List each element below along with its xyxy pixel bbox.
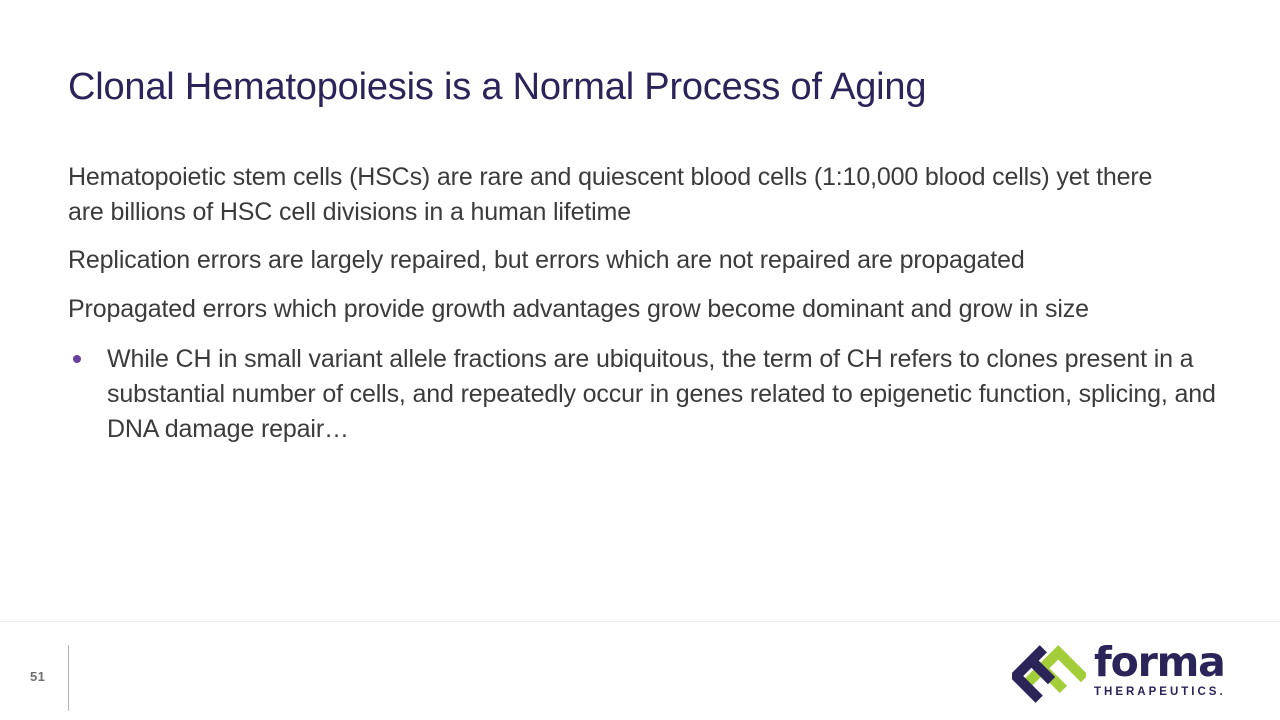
footer-divider-rule (0, 621, 1280, 622)
page-number: 51 (30, 669, 60, 684)
logo-name: forma (1094, 642, 1224, 683)
list-item: While CH in small variant allele fractio… (68, 342, 1242, 447)
list-item-label: While CH in small variant allele fractio… (107, 345, 1216, 443)
body-paragraph: Replication errors are largely repaired,… (68, 243, 1078, 278)
footer-vertical-divider (68, 645, 69, 711)
logo-wordmark: forma THERAPEUTICS. (1094, 642, 1224, 708)
body-paragraph: Hematopoietic stem cells (HSCs) are rare… (68, 160, 1168, 229)
page-title: Clonal Hematopoiesis is a Normal Process… (68, 63, 1208, 111)
body-paragraph: Propagated errors which provide growth a… (68, 292, 1203, 327)
forma-interlocking-diamond-icon (1012, 640, 1086, 710)
brand-logo: forma THERAPEUTICS. (1012, 640, 1224, 710)
bullet-point-icon (73, 355, 81, 363)
slide-body: Hematopoietic stem cells (HSCs) are rare… (68, 160, 1203, 447)
logo-tagline: THERAPEUTICS. (1094, 686, 1224, 699)
slide-canvas: Clonal Hematopoiesis is a Normal Process… (0, 0, 1280, 720)
